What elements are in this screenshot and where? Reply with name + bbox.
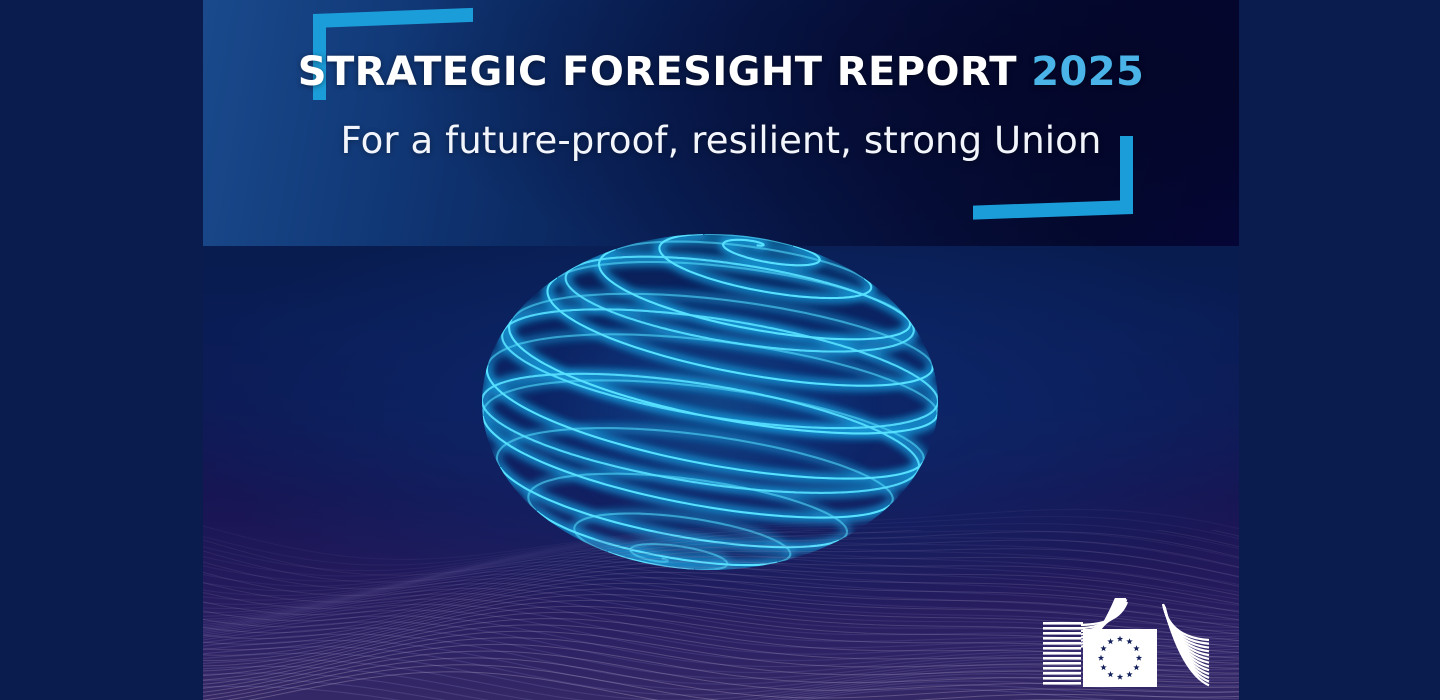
bracket-br-vertical <box>1120 136 1133 214</box>
eu-commission-logo-icon <box>1041 598 1211 690</box>
bracket-top-left-icon <box>313 14 473 100</box>
poster-canvas: STRATEGIC FORESIGHT REPORT 2025 For a fu… <box>0 0 1440 700</box>
bracket-tl-vertical <box>313 14 326 100</box>
european-commission-logo <box>1041 598 1211 690</box>
bracket-bottom-right-icon <box>973 136 1133 214</box>
poster-artwork: STRATEGIC FORESIGHT REPORT 2025 For a fu… <box>203 0 1239 700</box>
